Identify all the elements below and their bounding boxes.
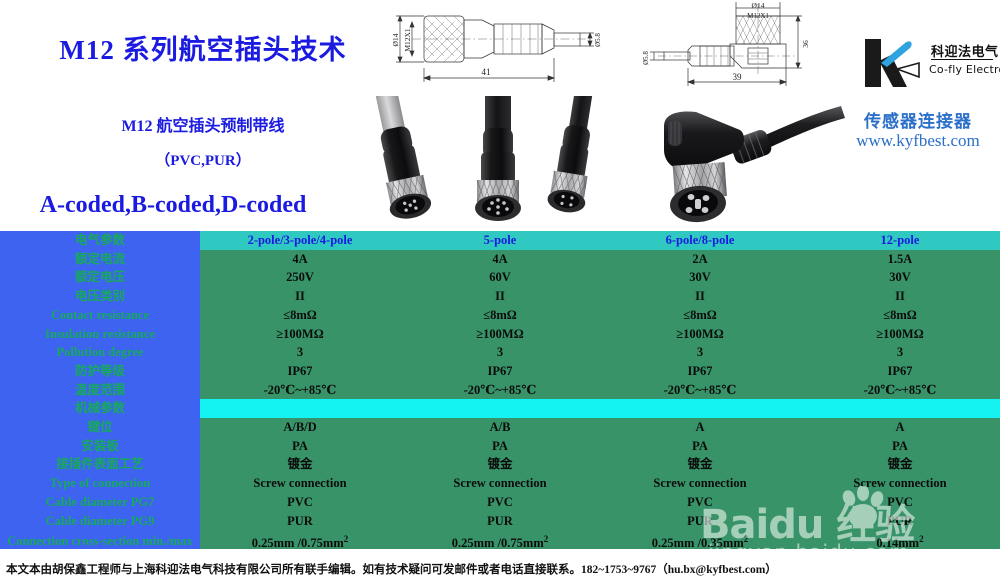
dim-height-angled: 36 [801,40,810,48]
cell-r11-c2: PA [600,437,800,456]
row-label: Pollution degree [0,343,200,362]
cell-r12-c1: 镀金 [400,455,600,474]
cell-r7-c1: IP67 [400,362,600,381]
cell-r10-c1: A/B [400,418,600,437]
logo-company-cn: 科迎法电气 [931,41,999,60]
dim-cable-straight: Ø5.8 [594,33,602,47]
row-label: 温度范围 [0,381,200,400]
table-row: 电气参数2-pole/3-pole/4-pole5-pole6-pole/8-p… [0,231,1000,250]
dim-diameter-angled: Ø14 [752,2,765,10]
logo-website-url[interactable]: www.kyfbest.com [843,131,993,151]
product-subtitle: M12 航空插头预制带线 [58,112,348,136]
cell-r10-c0: A/B/D [200,418,400,437]
cell-r2-c1: 60V [400,268,600,287]
cell-r12-c0: 镀金 [200,455,400,474]
cell-r7-c0: IP67 [200,362,400,381]
row-label: 机械参数 [0,399,200,418]
cell-r11-c0: PA [200,437,400,456]
footer-credit-text: 本文本由胡保鑫工程师与上海科迎法电气科技有限公司所有联手编辑。如有技术疑问可发邮… [6,561,777,577]
row-label: 额定电流 [0,250,200,269]
cell-r1-c1: 4A [400,250,600,269]
cell-r0-c2: 6-pole/8-pole [600,231,800,250]
table-row: 额定电压250V60V30V30V [0,268,1000,287]
cell-r11-c3: PA [800,437,1000,456]
cell-r15-c0: PUR [200,512,400,531]
cell-r1-c0: 4A [200,250,400,269]
coding-types-title: A-coded,B-coded,D-coded [8,192,338,219]
cell-r9-c2 [600,399,800,418]
cell-r10-c3: A [800,418,1000,437]
cell-r3-c1: II [400,287,600,306]
table-row: 温度范围-20℃~+85℃-20℃~+85℃-20℃~+85℃-20℃~+85℃ [0,381,1000,400]
angled-connector-drawing: Ø14 M12X1 39 36 Ø5.8 [640,2,822,98]
angled-connector-photo [636,92,851,230]
cell-r3-c0: II [200,287,400,306]
company-logo: 科迎法电气 Co-fly Electronics 传感器连接器 www.kyfb… [843,33,993,173]
cell-r13-c0: Screw connection [200,474,400,493]
cell-r4-c0: ≤8mΩ [200,306,400,325]
table-row: 键位A/B/DA/BAA [0,418,1000,437]
cell-r12-c3: 镀金 [800,455,1000,474]
dim-cable-angled: Ø5.8 [642,51,650,65]
cell-r3-c2: II [600,287,800,306]
table-row: 安装板PAPAPAPA [0,437,1000,456]
cell-r4-c1: ≤8mΩ [400,306,600,325]
row-label: Insulation resistance [0,325,200,344]
straight-connector-drawing: 41 Ø14 M12X1 Ø5.8 [382,2,622,94]
dim-length-straight: 41 [482,67,491,77]
table-row: Type of connectionScrew connectionScrew … [0,474,1000,493]
cell-r8-c2: -20℃~+85℃ [600,381,800,400]
cell-r0-c3: 12-pole [800,231,1000,250]
cell-r8-c0: -20℃~+85℃ [200,381,400,400]
cell-r14-c0: PVC [200,493,400,512]
cell-r8-c1: -20℃~+85℃ [400,381,600,400]
row-label: 额定电压 [0,268,200,287]
cell-r10-c2: A [600,418,800,437]
cell-r13-c3: Screw connection [800,474,1000,493]
cell-r1-c2: 2A [600,250,800,269]
cell-r15-c1: PUR [400,512,600,531]
header-banner: M12 系列航空插头技术 M12 航空插头预制带线 （PVC,PUR） A-co… [0,0,1000,231]
table-row: 防护等级IP67IP67IP67IP67 [0,362,1000,381]
table-row: Cable diameter PG7PVCPVCPVCPVC [0,493,1000,512]
cell-r1-c3: 1.5A [800,250,1000,269]
logo-divider [931,59,993,60]
row-label: 键位 [0,418,200,437]
table-row: 机械参数 [0,399,1000,418]
page-root: M12 系列航空插头技术 M12 航空插头预制带线 （PVC,PUR） A-co… [0,0,1000,584]
cell-r7-c3: IP67 [800,362,1000,381]
cell-r0-c0: 2-pole/3-pole/4-pole [200,231,400,250]
row-label: Cable diameter PG7 [0,493,200,512]
cell-r2-c2: 30V [600,268,800,287]
cell-r9-c0 [200,399,400,418]
cell-r12-c2: 镀金 [600,455,800,474]
table-row: 额定电流4A4A2A1.5A [0,250,1000,269]
material-subtitle: （PVC,PUR） [58,149,348,170]
table-row: Contact resistance≤8mΩ≤8mΩ≤8mΩ≤8mΩ [0,306,1000,325]
table-row: Cable diameter PG9PURPURPURPUR [0,512,1000,531]
cell-r3-c3: II [800,287,1000,306]
specification-table: 电气参数2-pole/3-pole/4-pole5-pole6-pole/8-p… [0,231,1000,553]
footer: 本文本由胡保鑫工程师与上海科迎法电气科技有限公司所有联手编辑。如有技术疑问可发邮… [0,549,1000,584]
page-title: M12 系列航空插头技术 [38,28,368,67]
cell-r2-c3: 30V [800,268,1000,287]
cell-r14-c1: PVC [400,493,600,512]
cell-r2-c0: 250V [200,268,400,287]
straight-connectors-photo [345,96,635,230]
brand-k-mark-icon [861,33,923,93]
cell-r14-c3: PVC [800,493,1000,512]
cell-r9-c1 [400,399,600,418]
cell-r15-c2: PUR [600,512,800,531]
table-row: Insulation resistance≥100MΩ≥100MΩ≥100MΩ≥… [0,325,1000,344]
cell-r4-c2: ≤8mΩ [600,306,800,325]
row-label: Cable diameter PG9 [0,512,200,531]
row-label: 电压类别 [0,287,200,306]
table-row: 电压类别IIIIIIII [0,287,1000,306]
row-label: 防护等级 [0,362,200,381]
cell-r5-c1: ≥100MΩ [400,325,600,344]
cell-r13-c2: Screw connection [600,474,800,493]
dim-length-angled: 39 [733,72,743,82]
row-label: Contact resistance [0,306,200,325]
cell-r15-c3: PUR [800,512,1000,531]
cell-r6-c0: 3 [200,343,400,362]
dim-thread-straight: M12X1 [403,28,412,52]
table-row: Pollution degree3333 [0,343,1000,362]
row-label: 电气参数 [0,231,200,250]
cell-r5-c2: ≥100MΩ [600,325,800,344]
logo-tagline: 传感器连接器 [843,107,993,132]
cell-r7-c2: IP67 [600,362,800,381]
cell-r11-c1: PA [400,437,600,456]
cell-r6-c2: 3 [600,343,800,362]
logo-company-en: Co-fly Electronics [929,63,1000,76]
cell-r5-c0: ≥100MΩ [200,325,400,344]
dim-thread-angled: M12X1 [747,12,769,20]
cell-r4-c3: ≤8mΩ [800,306,1000,325]
cell-r6-c1: 3 [400,343,600,362]
cell-r0-c1: 5-pole [400,231,600,250]
cell-r13-c1: Screw connection [400,474,600,493]
cell-r14-c2: PVC [600,493,800,512]
cell-r6-c3: 3 [800,343,1000,362]
table-row: 接插件表面工艺镀金镀金镀金镀金 [0,455,1000,474]
cell-r5-c3: ≥100MΩ [800,325,1000,344]
row-label: Type of connection [0,474,200,493]
dim-diameter-straight: Ø14 [391,33,400,46]
row-label: 安装板 [0,437,200,456]
cell-r9-c3 [800,399,1000,418]
row-label: 接插件表面工艺 [0,455,200,474]
cell-r8-c3: -20℃~+85℃ [800,381,1000,400]
